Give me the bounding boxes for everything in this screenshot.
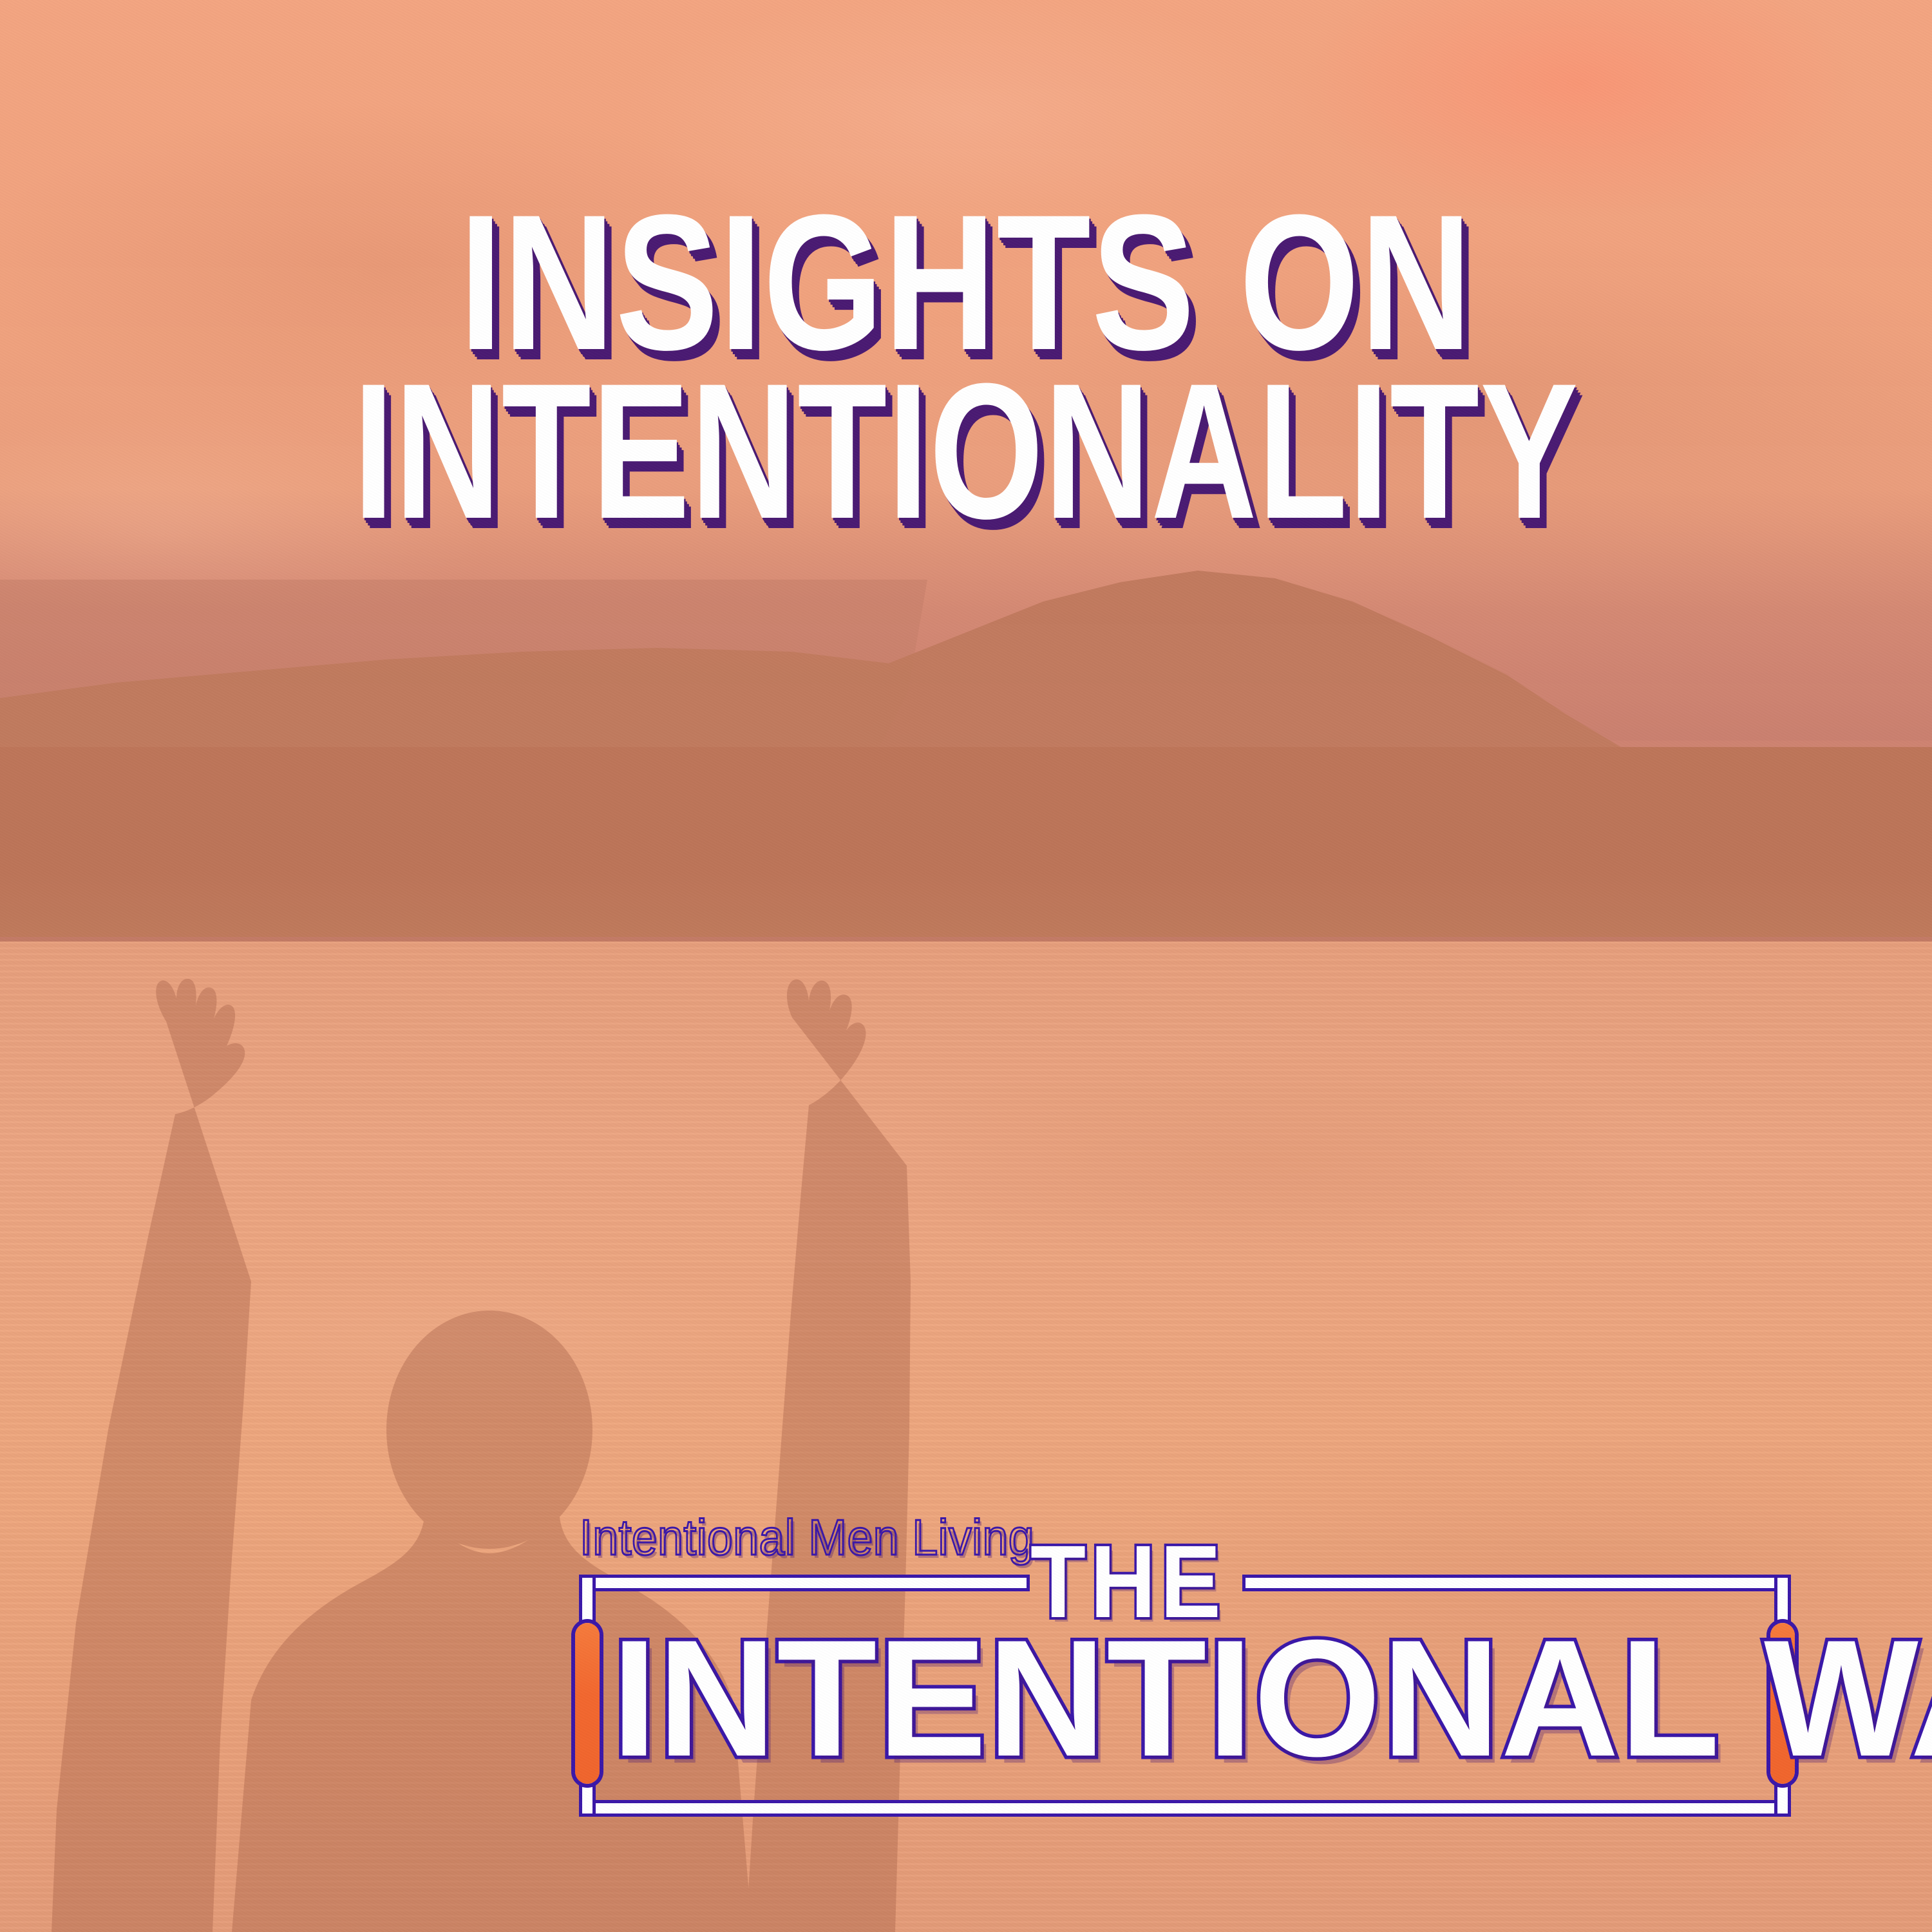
brand-name: INTENTIONAL WAY — [612, 1615, 1759, 1781]
podcast-cover-art: INSIGHTS ON INTENTIONALITY Intentional M… — [0, 0, 1932, 1932]
brand-logo: Intentional Men Living THE INTENTIONAL W… — [580, 1520, 1790, 1855]
logo-frame-top-right-rule — [1245, 1578, 1788, 1588]
logo-frame-bottom-rule — [582, 1803, 1788, 1814]
mountain-shadow-layer — [0, 747, 1932, 953]
title-line-2: INTENTIONALITY — [232, 362, 1700, 540]
logo-left-accent-pill — [575, 1623, 600, 1784]
logo-frame-top-left-rule — [582, 1578, 1027, 1588]
brand-tagline: Intentional Men Living — [580, 1508, 1034, 1567]
page-title: INSIGHTS ON INTENTIONALITY — [0, 193, 1932, 540]
